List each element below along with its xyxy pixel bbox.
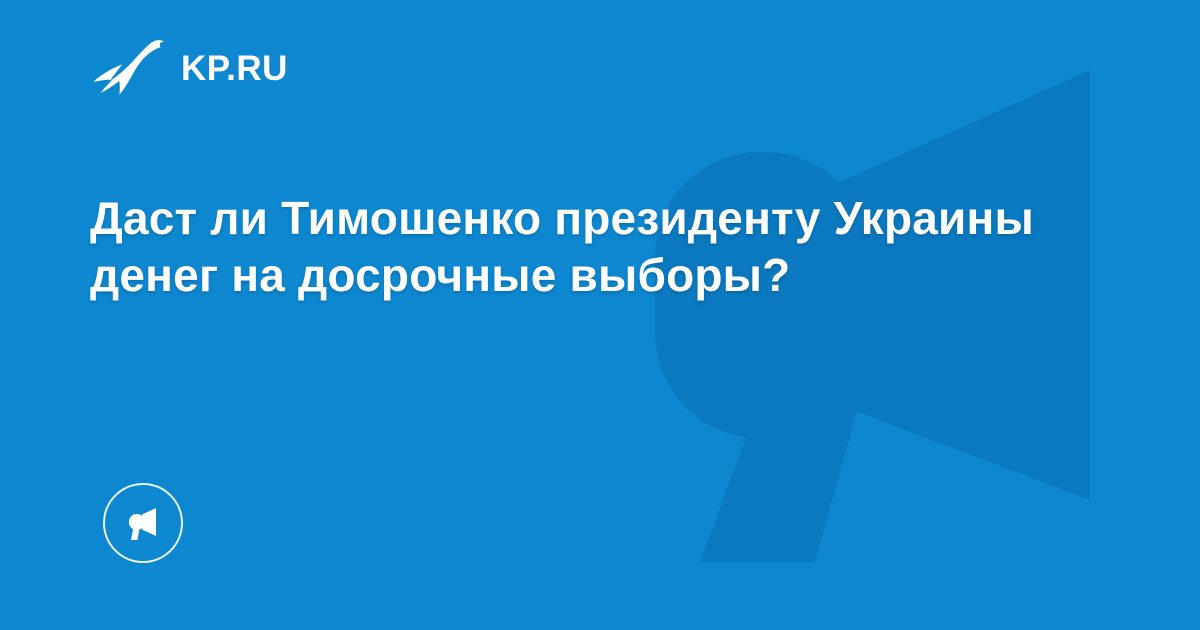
share-card: KP.RU Даст ли Тимошенко президенту Украи…: [0, 0, 1200, 630]
brand-wordmark: KP.RU: [181, 51, 288, 86]
megaphone-icon: [122, 502, 164, 544]
page-title: Даст ли Тимошенко президенту Украины ден…: [90, 190, 1050, 304]
swallow-bird-icon: [93, 37, 165, 99]
megaphone-badge[interactable]: [103, 483, 183, 563]
brand-logo[interactable]: KP.RU: [93, 38, 288, 98]
